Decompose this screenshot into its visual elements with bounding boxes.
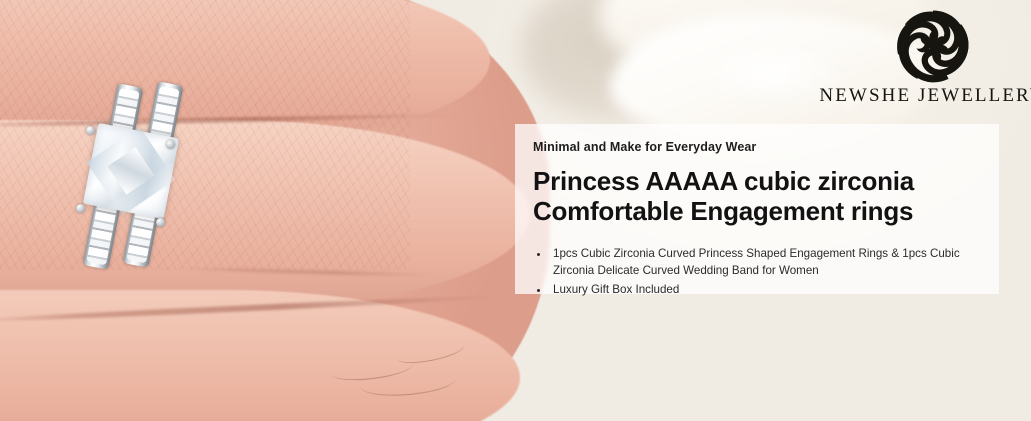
list-item: 1pcs Cubic Zirconia Curved Princess Shap…	[550, 245, 977, 280]
list-item: Luxury Gift Box Included	[550, 281, 977, 298]
product-banner: Minimal and Make for Everyday Wear Princ…	[0, 0, 1031, 421]
brand-wordmark: NEWSHE JEWELLERY	[819, 85, 1031, 107]
copy-panel: Minimal and Make for Everyday Wear Princ…	[515, 124, 999, 294]
ring-set	[48, 82, 248, 272]
headline-line-2: Comfortable Engagement rings	[533, 196, 977, 226]
princess-cut-stone	[83, 123, 179, 219]
prong-top-left	[86, 126, 95, 135]
headline-line-1: Princess AAAAA cubic zirconia	[533, 166, 977, 196]
panel-eyebrow: Minimal and Make for Everyday Wear	[533, 140, 977, 154]
prong-bottom-right	[156, 218, 165, 227]
swirl-pinwheel-diamond-logo-icon	[894, 6, 972, 84]
brand-logo: NEWSHE JEWELLERY	[840, 6, 1025, 114]
prong-top-right	[166, 140, 175, 149]
page-title: Princess AAAAA cubic zirconia Comfortabl…	[533, 166, 977, 227]
feature-list: 1pcs Cubic Zirconia Curved Princess Shap…	[533, 245, 977, 298]
prong-bottom-left	[76, 204, 85, 213]
pebble-spot-1	[790, 70, 816, 88]
